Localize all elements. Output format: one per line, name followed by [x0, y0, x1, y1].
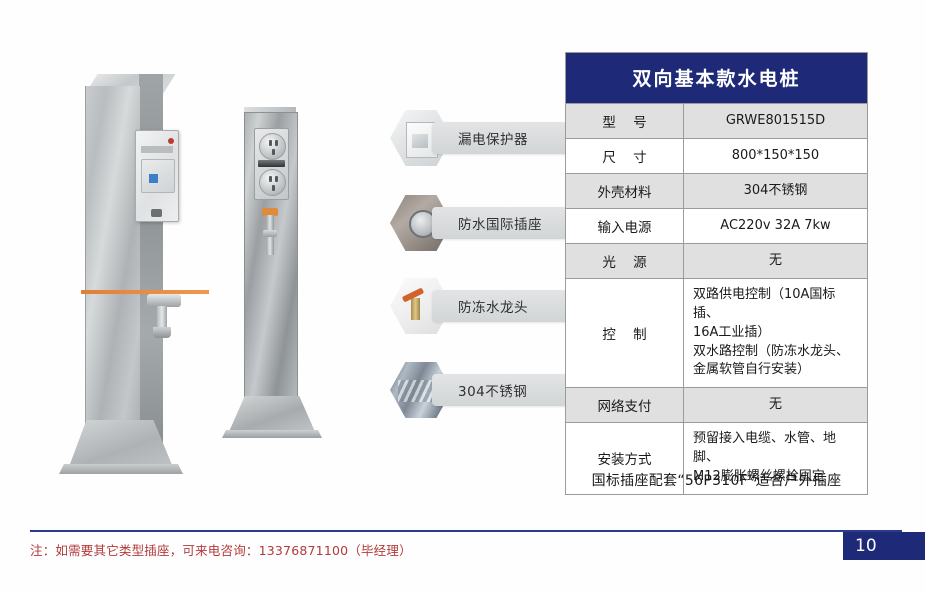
spec-key: 外壳材料 — [566, 174, 684, 208]
product-photo-pillar-right — [230, 112, 316, 442]
spec-value: GRWE801515D — [684, 104, 867, 138]
orange-pipe — [81, 290, 209, 294]
table-row: 网络支付 无 — [566, 387, 867, 422]
circuit-breaker-box-icon — [135, 130, 179, 222]
product-photo-area — [40, 40, 370, 510]
spec-value: 双路供电控制（10A国标插、 16A工业插） 双水路控制（防冻水龙头、 金属软管… — [684, 279, 867, 387]
breaker-label-strip — [141, 146, 173, 153]
socket-lower-icon — [259, 169, 286, 196]
callout-label-breaker: 漏电保护器 — [432, 122, 580, 154]
spec-value: AC220v 32A 7kw — [684, 209, 867, 243]
spec-value: 无 — [684, 244, 867, 278]
table-row: 型 号 GRWE801515D — [566, 103, 867, 138]
spec-key: 光 源 — [566, 244, 684, 278]
pillar2-tap-icon — [260, 208, 280, 260]
spec-key: 网络支付 — [566, 388, 684, 422]
pillar2-base-plate — [222, 430, 322, 438]
spec-key: 输入电源 — [566, 209, 684, 243]
table-row: 光 源 无 — [566, 243, 867, 278]
callout-label-tap: 防冻水龙头 — [432, 290, 580, 322]
breaker-knob-icon — [151, 209, 162, 217]
callout-label-steel: 304不锈钢 — [432, 374, 580, 406]
page-number-badge: 10 — [843, 532, 925, 560]
indicator-led-icon — [168, 138, 174, 144]
slide-canvas: 漏电保护器 防水国际插座 防冻水龙头 304不锈钢 双向基本款水电桩 型 号 G… — [0, 0, 925, 594]
spec-table: 双向基本款水电桩 型 号 GRWE801515D 尺 寸 800*150*150… — [565, 52, 868, 495]
spec-value: 无 — [684, 388, 867, 422]
breaker-window — [141, 159, 175, 193]
product-photo-pillar-left — [85, 68, 163, 443]
socket-upper-icon — [259, 133, 286, 160]
spec-value: 304不锈钢 — [684, 174, 867, 208]
spec-value: 800*150*150 — [684, 139, 867, 173]
table-row: 尺 寸 800*150*150 — [566, 138, 867, 173]
dual-socket-plate-icon — [254, 128, 289, 200]
table-row: 输入电源 AC220v 32A 7kw — [566, 208, 867, 243]
pillar-base-plate — [59, 464, 183, 474]
socket-divider — [258, 160, 285, 167]
footer-note: 注：如需要其它类型插座，可来电咨询：13376871100（毕经理） — [30, 540, 412, 559]
pillar2-base — [228, 396, 316, 434]
spec-key: 型 号 — [566, 104, 684, 138]
spec-key: 控 制 — [566, 279, 684, 387]
spec-key: 尺 寸 — [566, 139, 684, 173]
pillar-front-face — [85, 86, 140, 443]
tap-icon — [147, 294, 181, 338]
table-row: 外壳材料 304不锈钢 — [566, 173, 867, 208]
callout-label-socket: 防水国际插座 — [432, 207, 580, 239]
spec-table-note: 国标插座配套“56P310F”适合户外插座 — [565, 470, 868, 490]
table-row: 控 制 双路供电控制（10A国标插、 16A工业插） 双水路控制（防冻水龙头、 … — [566, 278, 867, 387]
spec-table-title: 双向基本款水电桩 — [566, 53, 867, 103]
footer-divider — [30, 530, 902, 532]
